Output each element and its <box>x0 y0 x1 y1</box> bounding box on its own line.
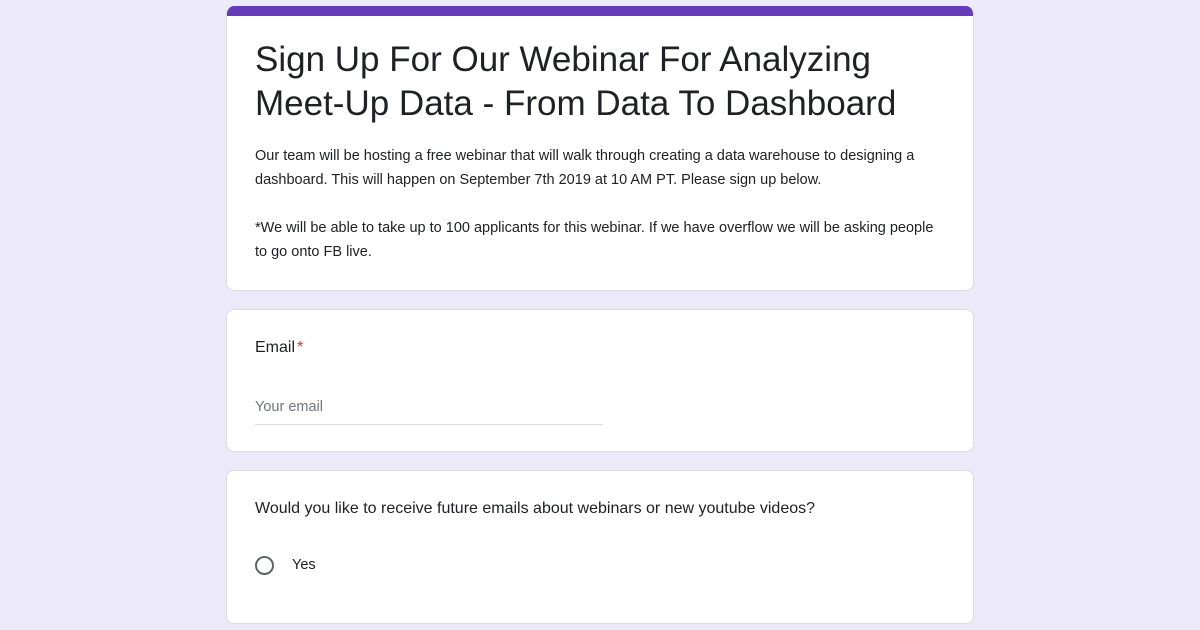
question-card-future-emails: Would you like to receive future emails … <box>226 470 974 624</box>
form-header-content: Sign Up For Our Webinar For Analyzing Me… <box>227 38 973 264</box>
form-accent-strip <box>227 6 973 16</box>
form-description-paragraph-2: *We will be able to take up to 100 appli… <box>255 216 945 264</box>
form-description: Our team will be hosting a free webinar … <box>255 144 945 264</box>
radio-group-future-emails: Yes <box>255 555 945 575</box>
required-indicator: * <box>297 339 303 356</box>
radio-option-yes[interactable]: Yes <box>255 555 945 575</box>
form-column: Sign Up For Our Webinar For Analyzing Me… <box>226 0 974 624</box>
question-label-email-text: Email <box>255 339 295 356</box>
short-answer-wrapper <box>255 398 603 425</box>
form-header-card: Sign Up For Our Webinar For Analyzing Me… <box>226 6 974 291</box>
page-title: Sign Up For Our Webinar For Analyzing Me… <box>255 38 945 126</box>
radio-option-yes-label: Yes <box>292 555 316 575</box>
question-label-email: Email* <box>255 336 945 360</box>
form-description-paragraph-1: Our team will be hosting a free webinar … <box>255 144 945 192</box>
question-card-email: Email* <box>226 309 974 452</box>
question-label-future-emails: Would you like to receive future emails … <box>255 497 945 521</box>
radio-circle-icon[interactable] <box>255 556 274 575</box>
form-page: Sign Up For Our Webinar For Analyzing Me… <box>0 0 1200 630</box>
email-field[interactable] <box>255 399 603 425</box>
